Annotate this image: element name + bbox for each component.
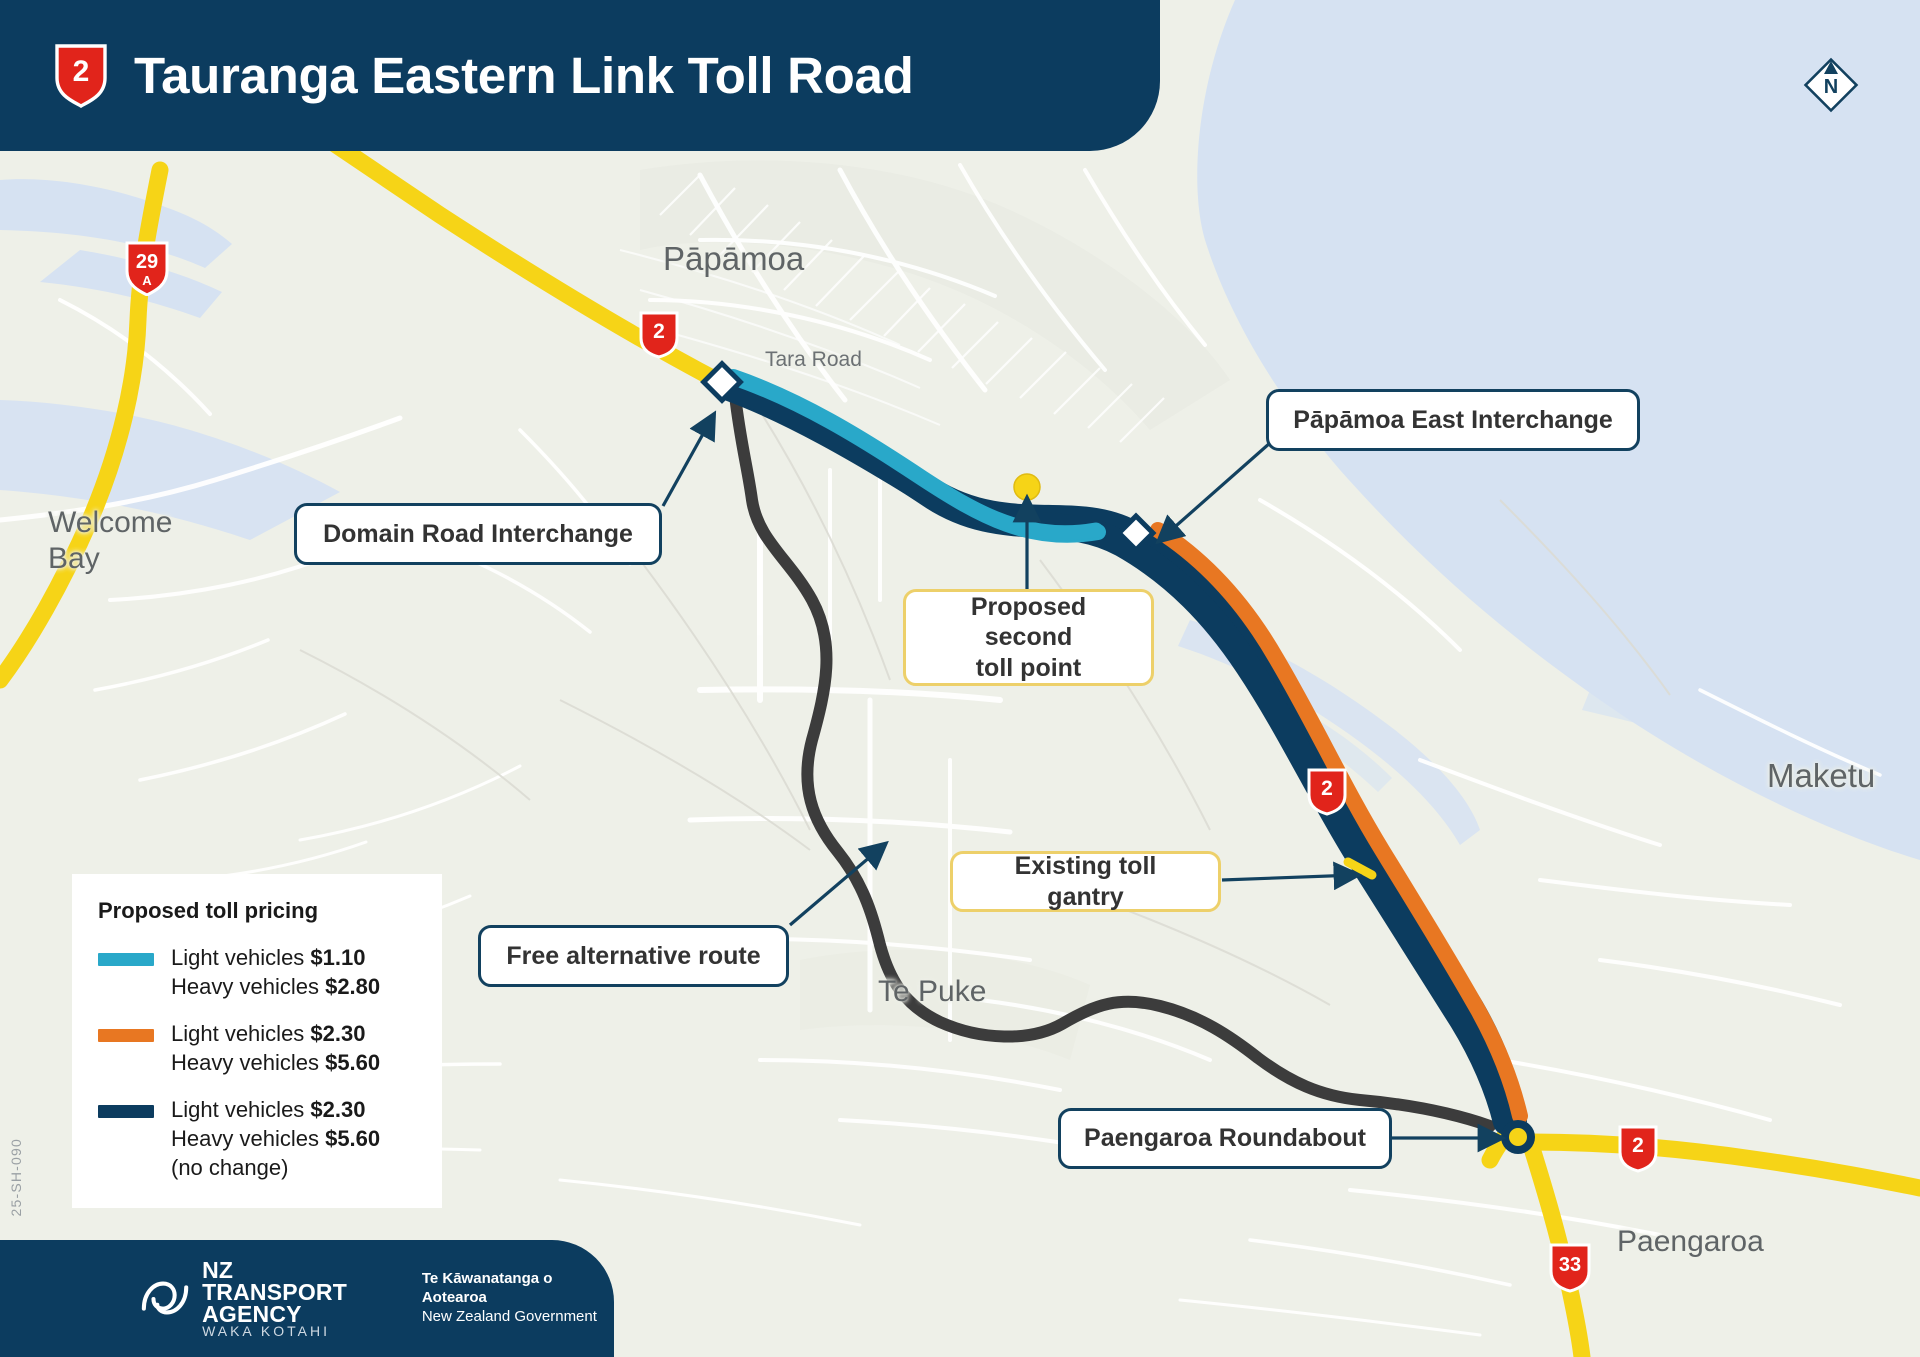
north-arrow-label: N [1824, 76, 1838, 98]
legend-light-row-cyan: Light vehicles $1.10 [171, 944, 380, 973]
header-shield-number: 2 [73, 55, 90, 88]
nzta-logo: NZ TRANSPORT AGENCY WAKA KOTAHI [140, 1259, 378, 1339]
legend-panel: Proposed toll pricing Light vehicles $1.… [72, 874, 442, 1208]
legend-heavy-row-navy: Heavy vehicles $5.60 [171, 1125, 380, 1154]
legend-light-price: $1.10 [310, 945, 365, 970]
header-banner: 2 Tauranga Eastern Link Toll Road [0, 0, 1160, 151]
callout-papamoa-east-interchange[interactable]: Pāpāmoa East Interchange [1266, 389, 1640, 451]
legend-heavy-label: Heavy vehicles [171, 1050, 325, 1075]
document-code: 25-SH-090 [8, 1138, 24, 1217]
legend-light-row-navy: Light vehicles $2.30 [171, 1096, 380, 1125]
map-canvas: 29 A 2 2 2 33 Pāpāmoa Tara Road Welcome … [0, 0, 1920, 1357]
legend-light-label: Light vehicles [171, 945, 310, 970]
legend-swatch-navy [98, 1105, 154, 1118]
header-shield-icon: 2 [54, 43, 108, 109]
legend-title: Proposed toll pricing [98, 898, 416, 924]
legend-heavy-price: $5.60 [325, 1050, 380, 1075]
callout-proposed-second-toll-point[interactable]: Proposed second toll point [903, 589, 1154, 686]
govt-line1: Te Kāwanatanga o Aotearoa [422, 1270, 614, 1308]
legend-heavy-price: $2.80 [325, 974, 380, 999]
legend-item-cyan: Light vehicles $1.10 Heavy vehicles $2.8… [98, 944, 416, 1001]
legend-light-price: $2.30 [310, 1097, 365, 1122]
nzta-line2: AGENCY [202, 1303, 378, 1325]
nzta-line3: WAKA KOTAHI [202, 1325, 378, 1338]
govt-line2: New Zealand Government [422, 1308, 614, 1327]
footer-banner: NZ TRANSPORT AGENCY WAKA KOTAHI Te Kāwan… [0, 1240, 614, 1357]
page-title: Tauranga Eastern Link Toll Road [134, 46, 913, 105]
legend-note-no-change: (no change) [171, 1154, 380, 1183]
legend-heavy-row-cyan: Heavy vehicles $2.80 [171, 973, 380, 1002]
legend-heavy-label: Heavy vehicles [171, 1126, 325, 1151]
legend-heavy-price: $5.60 [325, 1126, 380, 1151]
legend-heavy-label: Heavy vehicles [171, 974, 325, 999]
nzta-line1: NZ TRANSPORT [202, 1259, 378, 1303]
legend-item-navy: Light vehicles $2.30 Heavy vehicles $5.6… [98, 1096, 416, 1182]
legend-swatch-orange [98, 1029, 154, 1042]
north-arrow-icon: N [1801, 55, 1861, 115]
callout-domain-road-interchange[interactable]: Domain Road Interchange [294, 503, 662, 565]
legend-light-label: Light vehicles [171, 1097, 310, 1122]
nzta-koru-icon [140, 1275, 190, 1321]
nz-government-logo: Te Kāwanatanga o Aotearoa New Zealand Go… [422, 1270, 614, 1326]
legend-light-label: Light vehicles [171, 1021, 310, 1046]
callout-free-alternative-route[interactable]: Free alternative route [478, 925, 789, 987]
legend-light-price: $2.30 [310, 1021, 365, 1046]
legend-swatch-cyan [98, 953, 154, 966]
callout-existing-toll-gantry[interactable]: Existing toll gantry [950, 851, 1221, 912]
callout-paengaroa-roundabout[interactable]: Paengaroa Roundabout [1058, 1108, 1392, 1169]
legend-light-row-orange: Light vehicles $2.30 [171, 1020, 380, 1049]
legend-heavy-row-orange: Heavy vehicles $5.60 [171, 1049, 380, 1078]
legend-item-orange: Light vehicles $2.30 Heavy vehicles $5.6… [98, 1020, 416, 1077]
